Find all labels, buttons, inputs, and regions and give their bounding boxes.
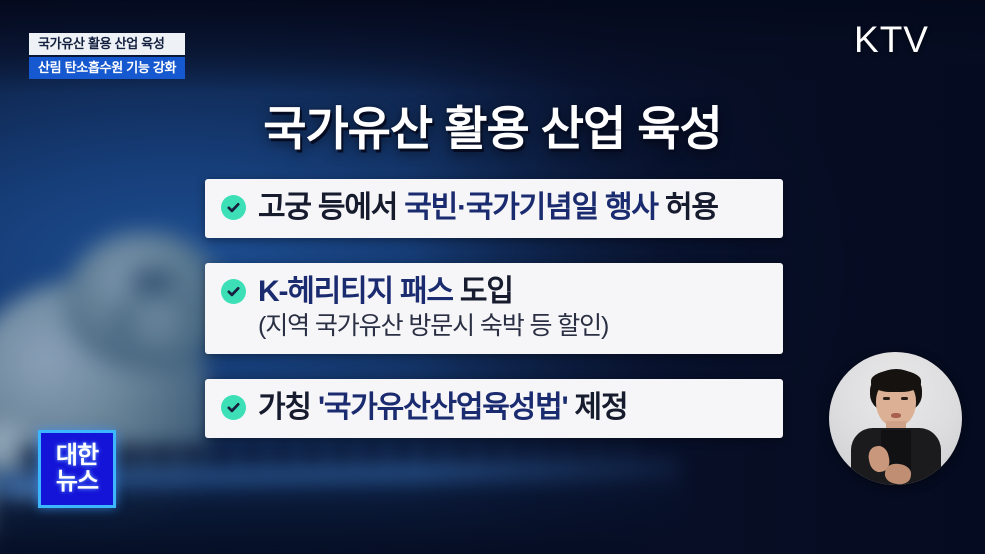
check-circle-icon: [221, 279, 246, 304]
bullet-panel-3: 가칭 '국가유산산업육성법' 제정: [205, 379, 783, 438]
bullet-text-2: K-헤리티지 패스 도입 (지역 국가유산 방문시 숙박 등 할인): [258, 274, 767, 342]
bullet-text-1: 고궁 등에서 국빈·국가기념일 행사 허용: [258, 190, 767, 226]
bullet-1-seg-2: 국빈·국가기념일 행사: [404, 191, 658, 224]
check-circle-icon: [221, 195, 246, 220]
bullet-2-seg-1: K-헤리티지 패스: [258, 275, 453, 308]
daehan-news-watermark: 대한 뉴스: [38, 430, 116, 508]
bullet-panel-1: 고궁 등에서 국빈·국가기념일 행사 허용: [205, 179, 783, 238]
bullet-panel-list: 고궁 등에서 국빈·국가기념일 행사 허용 K-헤리티지 패스 도입 (지역 국…: [205, 179, 783, 438]
bullet-main-line-1: 고궁 등에서 국빈·국가기념일 행사 허용: [258, 190, 767, 226]
ticker-line-1: 국가유산 활용 산업 육성: [29, 33, 185, 55]
page-title: 국가유산 활용 산업 육성: [0, 90, 985, 159]
broadcast-screen: 국가유산 활용 산업 육성 산림 탄소흡수원 기능 강화 KTV 국가유산 활용…: [0, 0, 985, 554]
bullet-3-seg-3: 제정: [567, 391, 627, 424]
bullet-sub-line-2: (지역 국가유산 방문시 숙박 등 할인): [258, 311, 767, 342]
sign-language-interpreter-inset: [829, 352, 962, 485]
bullet-main-line-2: K-헤리티지 패스 도입: [258, 274, 767, 310]
ktv-channel-logo: KTV: [854, 21, 929, 58]
bullet-panel-2: K-헤리티지 패스 도입 (지역 국가유산 방문시 숙박 등 할인): [205, 263, 783, 354]
bullet-3-seg-1: 가칭: [258, 391, 318, 424]
bullet-1-seg-1: 고궁 등에서: [258, 191, 404, 224]
bullet-3-seg-2: '국가유산산업육성법': [318, 391, 567, 424]
watermark-line-1: 대한: [56, 443, 98, 469]
bullet-main-line-3: 가칭 '국가유산산업육성법' 제정: [258, 390, 767, 426]
bullet-1-seg-3: 허용: [658, 191, 718, 224]
bullet-text-3: 가칭 '국가유산산업육성법' 제정: [258, 390, 767, 426]
watermark-line-2: 뉴스: [56, 469, 98, 495]
ticker-line-2: 산림 탄소흡수원 기능 강화: [29, 57, 185, 79]
check-circle-icon: [221, 395, 246, 420]
bullet-2-seg-2: 도입: [453, 275, 513, 308]
news-ticker: 국가유산 활용 산업 육성 산림 탄소흡수원 기능 강화: [29, 33, 185, 79]
